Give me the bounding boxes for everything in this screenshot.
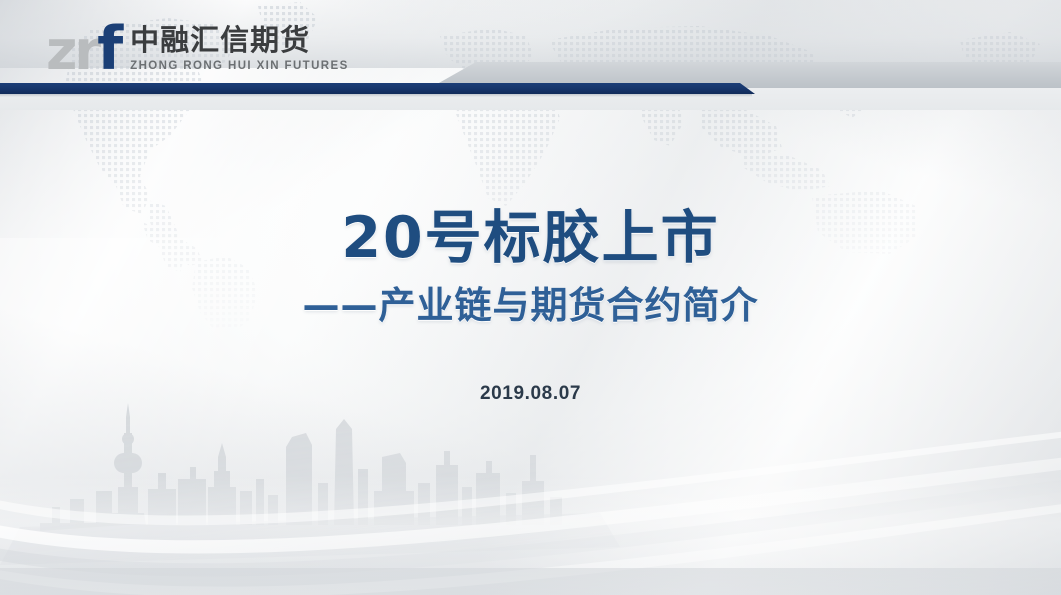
- logo-mark-f: f: [97, 22, 120, 76]
- logo-wordmark: 中融汇信期货 ZHONG RONG HUI XIN FUTURES: [130, 22, 349, 73]
- logo-mark-zr: zr: [46, 24, 98, 78]
- presentation-title-slide: zrf 中融汇信期货 ZHONG RONG HUI XIN FUTURES 20…: [0, 0, 1061, 595]
- company-name-en: ZHONG RONG HUI XIN FUTURES: [130, 59, 349, 73]
- slide-main-title: 20号标胶上市: [0, 205, 1061, 271]
- company-name-cn: 中融汇信期货: [130, 24, 349, 57]
- header-accent-bar: [0, 83, 755, 94]
- bottom-artwork: [0, 395, 1061, 595]
- company-logo: zrf 中融汇信期货 ZHONG RONG HUI XIN FUTURES: [46, 22, 349, 78]
- slide-sub-title: ——产业链与期货合约简介: [0, 281, 1061, 331]
- logo-mark: zrf: [46, 22, 120, 78]
- header-accent-bar-shadow: [0, 94, 752, 97]
- title-block: 20号标胶上市 ——产业链与期货合约简介 2019.08.07: [0, 205, 1061, 406]
